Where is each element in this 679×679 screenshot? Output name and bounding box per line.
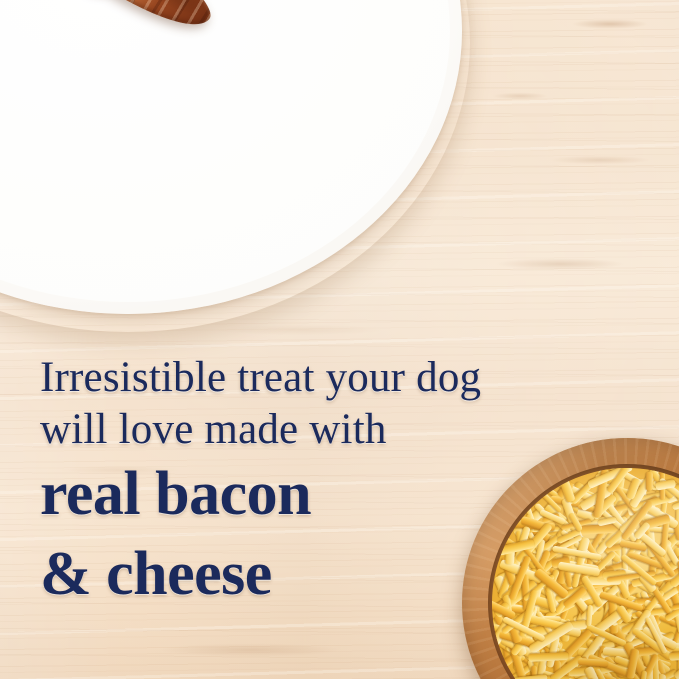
cheese-shred [669, 651, 679, 660]
cheese-shred [646, 471, 653, 490]
headline-line-1: Irresistible treat your dog [40, 352, 600, 404]
headline-line-4-emphasis: & cheese [40, 536, 600, 612]
headline-line-3-emphasis: real bacon [40, 456, 600, 532]
product-marketing-image: Irresistible treat your dog will love ma… [0, 0, 679, 679]
headline-block: Irresistible treat your dog will love ma… [40, 352, 600, 612]
headline-line-2: will love made with [40, 404, 600, 456]
